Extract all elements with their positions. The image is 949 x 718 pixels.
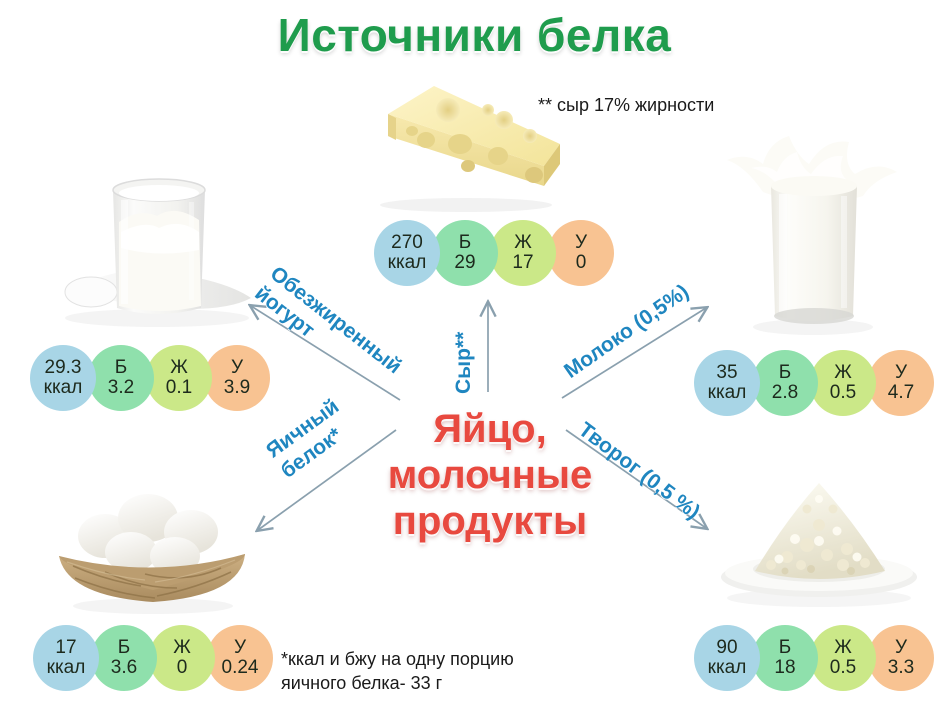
center-title-line-3: продукты	[352, 498, 628, 544]
kcal-circle: 90 ккал	[694, 625, 760, 691]
carb-circle: У 3.3	[868, 625, 934, 691]
carb-circle: У 0.24	[207, 625, 273, 691]
carb-value: 3.9	[224, 378, 250, 398]
fat-value: 0.5	[830, 383, 856, 403]
carb-label: У	[895, 363, 907, 383]
fat-label: Ж	[514, 233, 532, 253]
kcal-circle: 270 ккал	[374, 220, 440, 286]
carb-circle: У 0	[548, 220, 614, 286]
kcal-value: 29.3	[45, 358, 82, 378]
fat-value: 17	[512, 253, 533, 273]
protein-value: 29	[454, 253, 475, 273]
carb-circle: У 4.7	[868, 350, 934, 416]
fat-label: Ж	[170, 358, 188, 378]
kcal-unit: ккал	[47, 658, 86, 678]
fat-circle: Ж 0.5	[810, 350, 876, 416]
fat-label: Ж	[173, 638, 191, 658]
protein-circle: Б 3.6	[91, 625, 157, 691]
protein-label: Б	[779, 638, 791, 658]
kcal-unit: ккал	[388, 253, 427, 273]
kcal-circle: 29.3 ккал	[30, 345, 96, 411]
center-title: Яйцо, молочные продукты	[352, 406, 628, 544]
kcal-value: 90	[716, 638, 737, 658]
protein-value: 2.8	[772, 383, 798, 403]
kcal-value: 17	[55, 638, 76, 658]
kcal-unit: ккал	[44, 378, 83, 398]
kcal-circle: 35 ккал	[694, 350, 760, 416]
egg-portion-note: *ккал и бжу на одну порцию яичного белка…	[281, 647, 581, 696]
fat-value: 0.5	[830, 658, 856, 678]
fat-label: Ж	[834, 638, 852, 658]
kcal-value: 270	[391, 233, 423, 253]
carb-label: У	[231, 358, 243, 378]
spoke-label-cheese: Сыр**	[452, 332, 477, 394]
protein-label: Б	[115, 358, 127, 378]
carb-label: У	[234, 638, 246, 658]
kcal-circle: 17 ккал	[33, 625, 99, 691]
protein-value: 3.6	[111, 658, 137, 678]
kcal-value: 35	[716, 363, 737, 383]
fat-circle: Ж 0.1	[146, 345, 212, 411]
fat-value: 0.1	[166, 378, 192, 398]
carb-label: У	[575, 233, 587, 253]
carb-label: У	[895, 638, 907, 658]
protein-label: Б	[459, 233, 471, 253]
protein-circle: Б 29	[432, 220, 498, 286]
kcal-unit: ккал	[708, 383, 747, 403]
protein-value: 18	[774, 658, 795, 678]
fat-label: Ж	[834, 363, 852, 383]
carb-value: 4.7	[888, 383, 914, 403]
protein-label: Б	[118, 638, 130, 658]
carb-value: 0	[576, 253, 587, 273]
fat-value: 0	[177, 658, 188, 678]
fat-circle: Ж 0	[149, 625, 215, 691]
fat-circle: Ж 17	[490, 220, 556, 286]
fat-circle: Ж 0.5	[810, 625, 876, 691]
carb-value: 0.24	[222, 658, 259, 678]
kcal-unit: ккал	[708, 658, 747, 678]
center-title-line-1: Яйцо,	[352, 406, 628, 452]
carb-circle: У 3.9	[204, 345, 270, 411]
protein-value: 3.2	[108, 378, 134, 398]
protein-circle: Б 2.8	[752, 350, 818, 416]
protein-circle: Б 18	[752, 625, 818, 691]
protein-circle: Б 3.2	[88, 345, 154, 411]
infographic-canvas: Источники белка	[0, 0, 949, 718]
center-title-line-2: молочные	[352, 452, 628, 498]
protein-label: Б	[779, 363, 791, 383]
carb-value: 3.3	[888, 658, 914, 678]
